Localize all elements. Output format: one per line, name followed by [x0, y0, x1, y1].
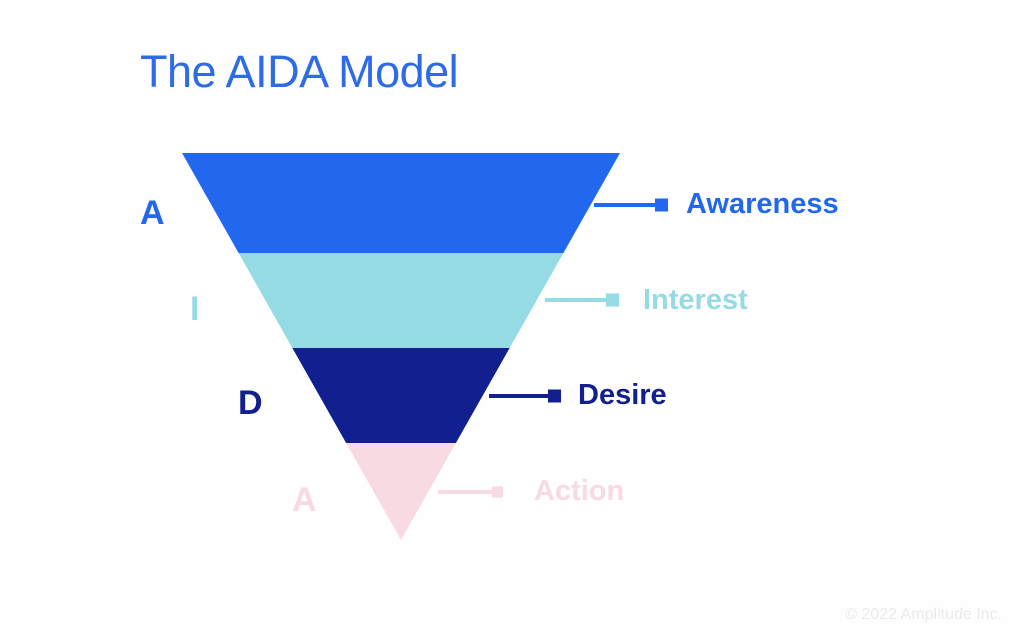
leader-marker-action [492, 487, 503, 498]
funnel-diagram [0, 0, 1024, 640]
stage-label-desire[interactable]: Desire [578, 381, 667, 410]
leader-marker-awareness [655, 199, 668, 212]
stage-letter-action: A [292, 483, 317, 517]
copyright-footer: © 2022 Amplitude Inc. [845, 606, 1002, 624]
stage-label-action[interactable]: Action [534, 477, 624, 506]
funnel-band-interest[interactable] [239, 253, 564, 348]
diagram-canvas: The AIDA Model AIDA AwarenessInterestDes… [0, 0, 1024, 640]
funnel-band-desire[interactable] [292, 348, 509, 443]
stage-letter-desire: D [238, 386, 263, 420]
leader-marker-desire [548, 390, 561, 403]
stage-letter-awareness: A [140, 196, 165, 230]
funnel-band-awareness[interactable] [182, 153, 620, 253]
leader-marker-interest [606, 294, 619, 307]
stage-label-awareness[interactable]: Awareness [686, 190, 839, 219]
stage-letter-interest: I [190, 292, 199, 326]
stage-label-interest[interactable]: Interest [643, 286, 748, 315]
